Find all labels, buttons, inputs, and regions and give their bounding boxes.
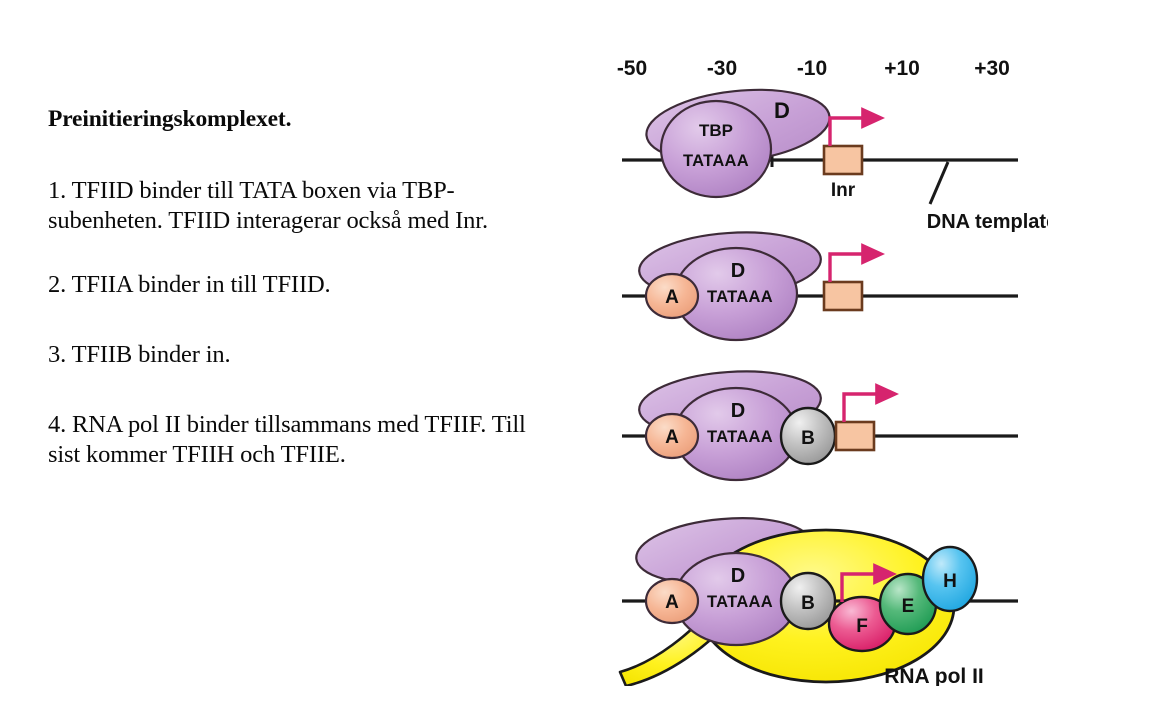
subunit-label-f: F (856, 616, 868, 637)
subunit-label-d: D (731, 400, 745, 422)
step-1-text: 1. TFIID binder till TATA boxen via TBP-… (48, 176, 548, 236)
subunit-label-b: B (801, 593, 815, 614)
panel-3-tfiib: A D TATAAA B (622, 366, 1018, 480)
tata-box-label: TATAAA (707, 288, 773, 306)
coordinate-scale: -50 -30 -10 +10 +30 (617, 57, 1010, 80)
tbp-subunit-circle (661, 101, 771, 197)
tbp-label: TBP (699, 121, 733, 140)
tata-box-label: TATAAA (707, 428, 773, 446)
scale-label-plus30: +30 (974, 57, 1010, 80)
rna-pol-ii-label: RNA pol II (884, 665, 984, 686)
subunit-label-a: A (665, 592, 679, 613)
transcription-start-arrow (830, 118, 868, 146)
inr-element-box (824, 146, 862, 174)
inr-label: Inr (831, 180, 856, 201)
preinitiation-complex-diagram: -50 -30 -10 +10 +30 D TBP TATAAA (596, 46, 1048, 686)
text-column: Preinitieringskomplexet. 1. TFIID binder… (48, 104, 548, 498)
page-title: Preinitieringskomplexet. (48, 104, 548, 134)
subunit-label-h: H (943, 571, 957, 592)
inr-element-box (836, 422, 874, 450)
subunit-label-d: D (731, 565, 745, 587)
transcription-start-arrow (844, 394, 882, 422)
subunit-label-b: B (801, 428, 815, 449)
subunit-label-d: D (731, 260, 745, 282)
tata-box-label: TATAAA (683, 152, 749, 170)
subunit-label-a: A (665, 427, 679, 448)
panel-4-holoenzyme: A D TATAAA B F E H RNA pol II (620, 511, 1018, 686)
scale-label-plus10: +10 (884, 57, 920, 80)
subunit-label-a: A (665, 287, 679, 308)
subunit-label-d: D (774, 98, 790, 123)
slide-canvas: Preinitieringskomplexet. 1. TFIID binder… (0, 0, 1154, 724)
dna-template-leader-line (930, 162, 948, 204)
dna-template-label: DNA template (927, 211, 1048, 233)
step-4-text: 4. RNA pol II binder tillsammans med TFI… (48, 410, 548, 470)
scale-label-minus10: -10 (797, 57, 827, 80)
step-3-text: 3. TFIIB binder in. (48, 340, 548, 370)
tata-box-label: TATAAA (707, 593, 773, 611)
scale-label-minus30: -30 (707, 57, 737, 80)
transcription-start-arrow (830, 254, 868, 282)
panel-1-tfiid: D TBP TATAAA Inr DNA template (622, 82, 1048, 233)
subunit-label-e: E (902, 596, 915, 617)
panel-2-tfiia: A D TATAAA (622, 227, 1018, 340)
scale-label-minus50: -50 (617, 57, 647, 80)
step-2-text: 2. TFIIA binder in till TFIID. (48, 270, 548, 300)
inr-element-box (824, 282, 862, 310)
